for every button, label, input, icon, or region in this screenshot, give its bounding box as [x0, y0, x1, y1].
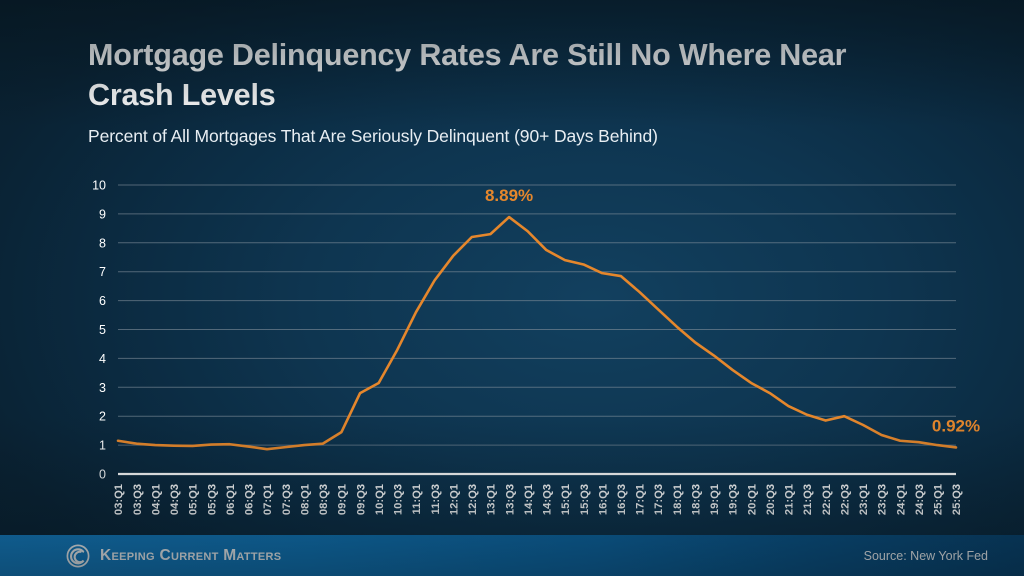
y-axis-tick-label: 7 [99, 265, 106, 279]
x-axis-tick-label: 22:Q3 [839, 484, 851, 515]
x-axis-tick-label: 21:Q3 [802, 484, 814, 515]
delinquency-rate-line [118, 217, 956, 449]
line-chart-svg: 012345678910 03:Q103:Q304:Q104:Q305:Q105… [0, 0, 1024, 576]
x-axis-tick-label: 08:Q1 [299, 484, 311, 515]
x-axis-tick-label: 16:Q3 [616, 484, 628, 515]
x-axis-tick-label: 25:Q3 [951, 484, 963, 515]
x-axis-tick-label: 11:Q1 [411, 484, 423, 514]
y-axis-tick-label: 5 [99, 323, 106, 337]
x-axis-tick-label: 21:Q1 [784, 484, 796, 515]
y-axis-tick-label: 10 [92, 179, 106, 193]
x-axis-tick-label: 20:Q3 [765, 484, 777, 515]
y-axis-tick-label: 1 [99, 439, 106, 453]
x-axis-tick-label: 18:Q1 [672, 484, 684, 515]
x-axis-tick-label: 17:Q1 [635, 484, 647, 515]
x-axis-tick-label: 09:Q3 [355, 484, 367, 515]
y-axis-tick-label: 9 [99, 207, 106, 221]
x-axis-tick-label: 05:Q3 [206, 484, 218, 515]
x-axis-tick-label: 19:Q1 [709, 484, 721, 515]
y-axis-labels: 012345678910 [92, 179, 106, 482]
chart-area: 012345678910 03:Q103:Q304:Q104:Q305:Q105… [0, 0, 1024, 576]
x-axis-tick-label: 24:Q1 [895, 484, 907, 515]
x-axis-tick-label: 10:Q3 [393, 484, 405, 515]
x-axis-tick-label: 09:Q1 [337, 484, 349, 515]
x-axis-tick-label: 06:Q3 [244, 484, 256, 515]
x-axis-tick-label: 19:Q3 [728, 484, 740, 515]
x-axis-tick-label: 05:Q1 [188, 484, 200, 515]
brand-lockup: Keeping Current Matters [66, 544, 281, 568]
x-axis-tick-label: 03:Q1 [113, 484, 125, 515]
data-point-label: 0.92% [932, 416, 980, 435]
x-axis-tick-label: 12:Q3 [467, 484, 479, 515]
x-axis-tick-label: 18:Q3 [690, 484, 702, 515]
x-axis-tick-label: 04:Q3 [169, 484, 181, 515]
x-axis-tick-label: 11:Q3 [430, 484, 442, 514]
x-axis-tick-label: 20:Q1 [746, 484, 758, 515]
gridlines [118, 185, 956, 474]
data-point-label: 8.89% [485, 186, 533, 205]
x-axis-tick-label: 23:Q3 [877, 484, 889, 515]
x-axis-tick-label: 14:Q1 [523, 484, 535, 515]
x-axis-tick-label: 25:Q1 [933, 484, 945, 515]
x-axis-tick-label: 07:Q1 [262, 484, 274, 515]
x-axis-tick-label: 16:Q1 [597, 484, 609, 515]
x-axis-tick-label: 23:Q1 [858, 484, 870, 515]
spiral-circle-logo-icon [66, 544, 90, 568]
x-axis-tick-label: 08:Q3 [318, 484, 330, 515]
x-axis-tick-label: 04:Q1 [150, 484, 162, 515]
x-axis-tick-label: 15:Q3 [579, 484, 591, 515]
y-axis-tick-label: 2 [99, 410, 106, 424]
x-axis-tick-label: 03:Q3 [132, 484, 144, 515]
x-axis-tick-label: 22:Q1 [821, 484, 833, 515]
slide-canvas: Mortgage Delinquency Rates Are Still No … [0, 0, 1024, 576]
footer-bar: Keeping Current Matters Source: New York… [0, 535, 1024, 576]
source-attribution: Source: New York Fed [864, 549, 988, 563]
x-axis-tick-label: 10:Q1 [374, 484, 386, 515]
x-axis-tick-label: 13:Q3 [504, 484, 516, 515]
x-axis-tick-label: 14:Q3 [542, 484, 554, 515]
x-axis-labels: 03:Q103:Q304:Q104:Q305:Q105:Q306:Q106:Q3… [113, 484, 963, 515]
y-axis-tick-label: 0 [99, 468, 106, 482]
x-axis-tick-label: 15:Q1 [560, 484, 572, 515]
x-axis-tick-label: 13:Q1 [486, 484, 498, 515]
x-axis-tick-label: 07:Q3 [281, 484, 293, 515]
x-axis-tick-label: 12:Q1 [448, 484, 460, 515]
y-axis-tick-label: 8 [99, 236, 106, 250]
x-axis-tick-label: 17:Q3 [653, 484, 665, 515]
x-axis-tick-label: 24:Q3 [914, 484, 926, 515]
x-axis-tick-label: 06:Q1 [225, 484, 237, 515]
y-axis-tick-label: 4 [99, 352, 106, 366]
y-axis-tick-label: 6 [99, 294, 106, 308]
brand-name: Keeping Current Matters [100, 547, 281, 565]
y-axis-tick-label: 3 [99, 381, 106, 395]
data-point-labels: 8.89%0.92% [485, 186, 980, 435]
